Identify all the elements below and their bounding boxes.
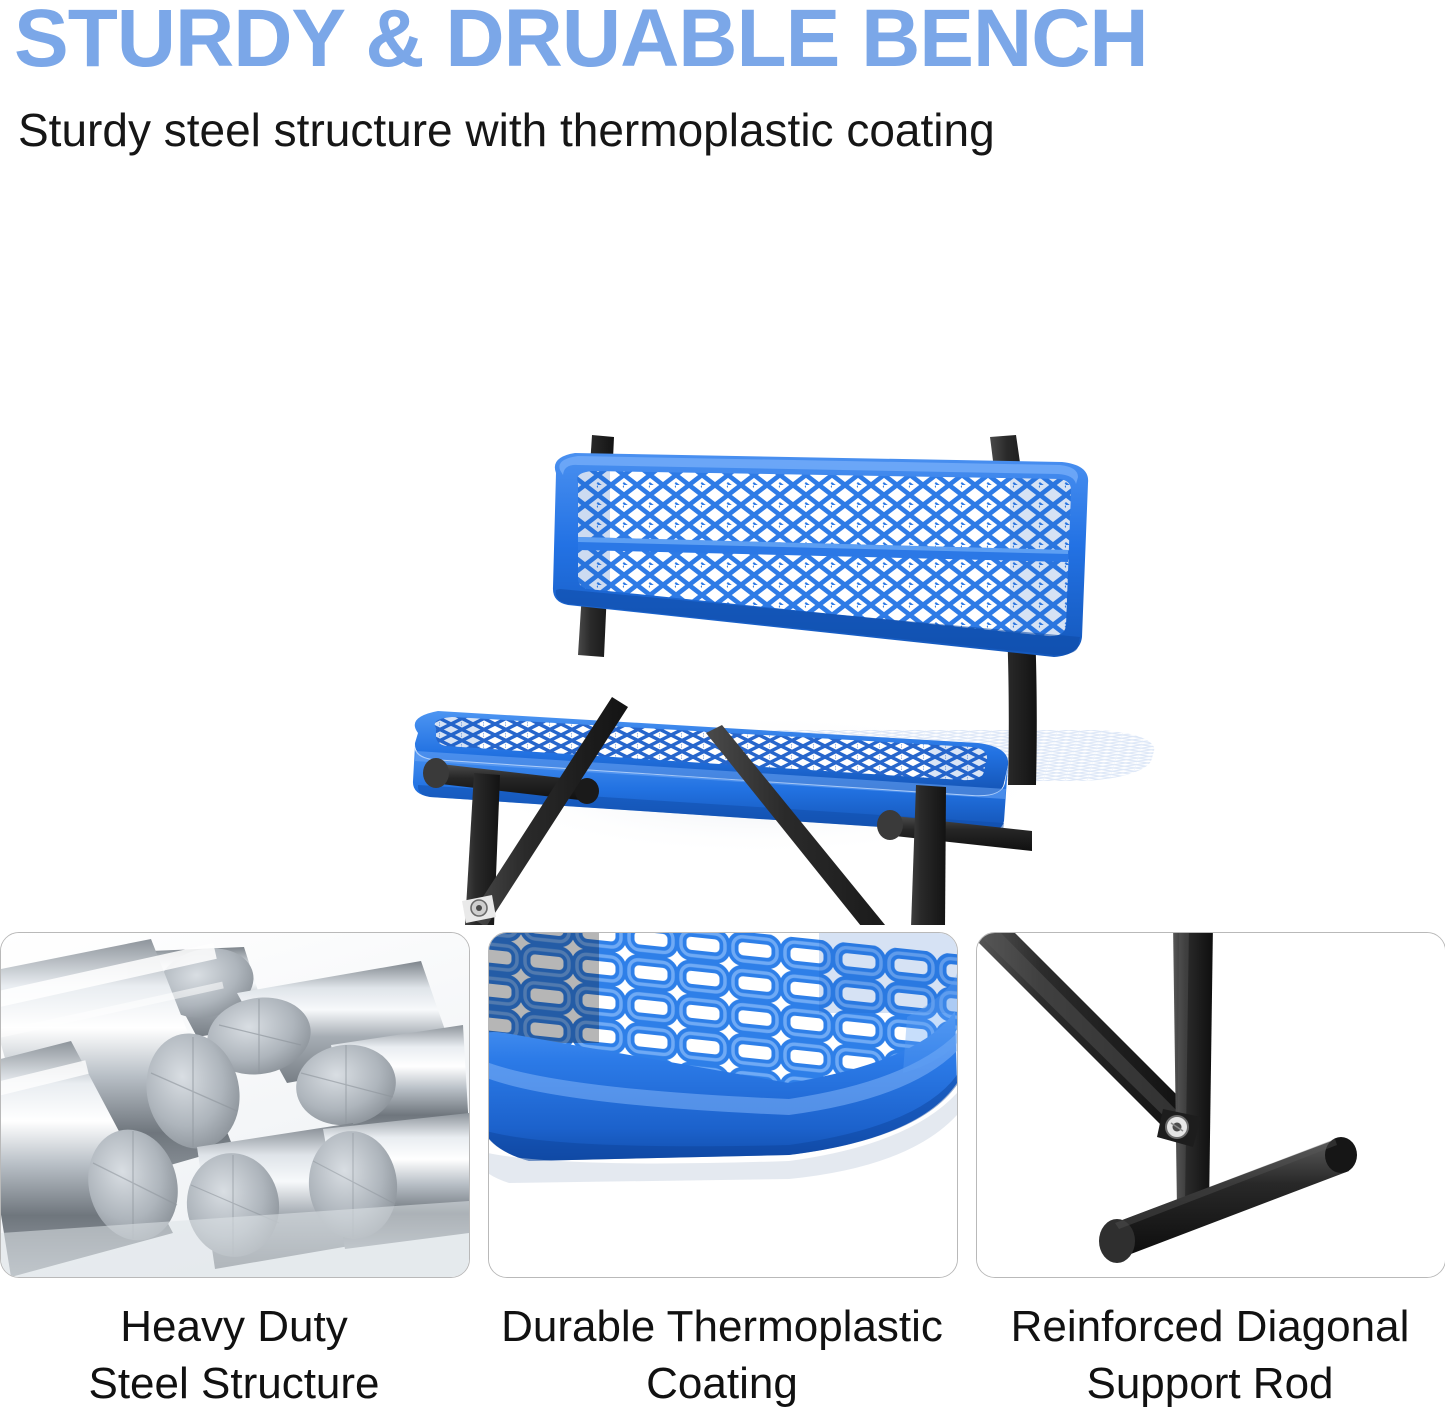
page-subtitle: Sturdy steel structure with thermoplasti… (18, 104, 995, 157)
caption-line-1: Heavy Duty (120, 1302, 347, 1351)
feature-caption-steel-structure: Heavy Duty Steel Structure (0, 1298, 468, 1412)
caption-line-1: Reinforced Diagonal (1011, 1302, 1410, 1351)
feature-panel-thermoplastic-coating (488, 932, 958, 1278)
feature-panel-diagonal-support-rod (976, 932, 1445, 1278)
caption-line-2: Support Rod (976, 1355, 1444, 1412)
caption-line-2: Coating (488, 1355, 956, 1412)
page-headline: STURDY & DRUABLE BENCH (14, 0, 1148, 86)
caption-line-2: Steel Structure (0, 1355, 468, 1412)
feature-caption-thermoplastic-coating: Durable Thermoplastic Coating (488, 1298, 956, 1412)
caption-line-1: Durable Thermoplastic (501, 1302, 943, 1351)
hero-product-image (0, 185, 1445, 925)
feature-panel-steel-structure (0, 932, 470, 1278)
feature-caption-support-rod: Reinforced Diagonal Support Rod (976, 1298, 1444, 1412)
